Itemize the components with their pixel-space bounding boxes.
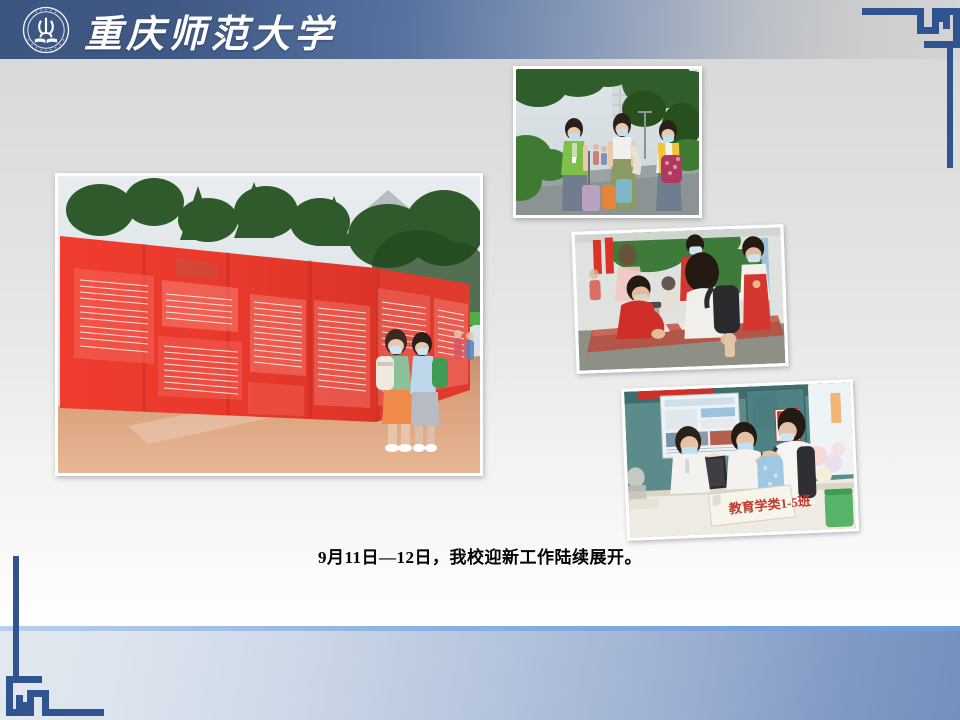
photo-students-arriving xyxy=(513,66,702,218)
photo-outdoor-registration xyxy=(571,224,788,374)
photo-banner-wall xyxy=(55,173,483,476)
photo-students-arriving-image xyxy=(516,69,699,215)
slide-background-white-band xyxy=(0,560,960,628)
slide-background-footer-band xyxy=(0,631,960,720)
photo-indoor-registration: 教育学类1-5班 xyxy=(621,379,859,541)
photo-outdoor-registration-image xyxy=(575,227,786,370)
photo-indoor-registration-image: 教育学类1-5班 xyxy=(624,382,856,537)
university-logo-icon xyxy=(22,6,70,54)
photo-banner-wall-image xyxy=(58,176,480,473)
slide-caption: 9月11日—12日，我校迎新工作陆续展开。 xyxy=(0,543,960,568)
corner-ornament-bottom-left-icon xyxy=(6,556,104,716)
slide-header: 重庆师范大学 xyxy=(0,0,960,59)
presentation-slide: 重庆师范大学 xyxy=(0,0,960,720)
university-name: 重庆师范大学 xyxy=(84,3,336,57)
corner-ornament-top-right-icon xyxy=(862,8,960,168)
